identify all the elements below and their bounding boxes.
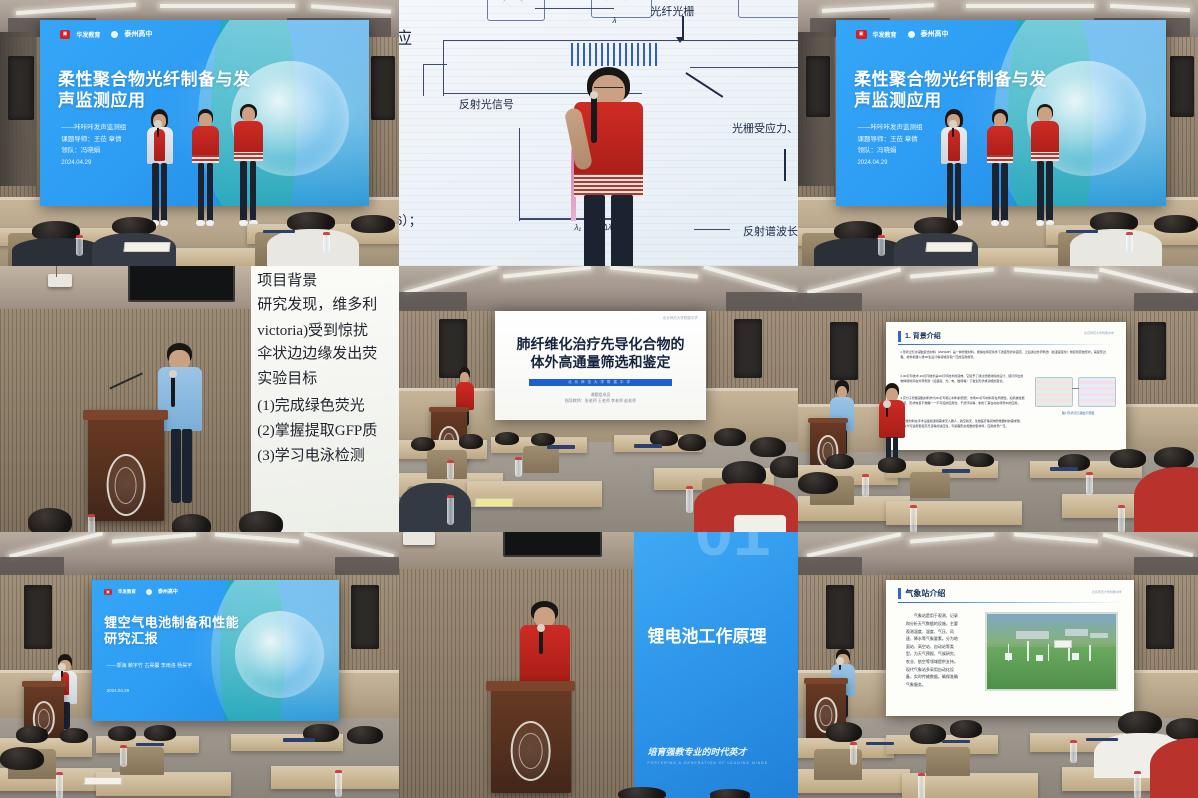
brand-logo-icon: ▣ <box>60 30 71 39</box>
diagram-label-grating-stress: 光栅受应力、 <box>732 120 798 136</box>
section-divider-slide[interactable]: 01 锂电池工作原理 培育强教专业的时代英才 FOSTERING A GENER… <box>634 532 798 798</box>
slide-accent-bar-text: 北京师范大学附属中学 <box>529 379 673 386</box>
partner-logo-label: 泰州高中 <box>921 29 949 39</box>
handheld-microphone <box>886 405 888 418</box>
slide-title: 柔性聚合物光纤制备与发 声监测应用 <box>58 70 251 111</box>
slide-subtitle: ——郭海 赖宇竹 古昊馨 李雨洛 杨昊宇 <box>107 662 193 671</box>
handheld-microphone <box>839 662 841 670</box>
university-seal <box>817 435 838 468</box>
slide-title: 柔性聚合物光纤制备与发 声监测应用 <box>854 70 1047 111</box>
collage-panel-top-center[interactable]: λ 光纤光栅 反射光信号 光栅受应力、 λ₁ Δλ 反射谱波长 <box>399 0 798 266</box>
partner-logo-label: 泰州高中 <box>124 29 152 39</box>
collage-panel-bottom-right[interactable]: 气象站介绍 北京师范大学附属中学 气象站是用于观测、记录和分析天气数据的设施，主… <box>798 532 1198 798</box>
podium <box>491 681 571 793</box>
slide-header-title: 气象站介绍 <box>905 588 945 599</box>
wall-speaker-right <box>371 56 395 120</box>
slide-line-7: (2)掌握提取GFP质 <box>257 419 377 440</box>
fiber-bragg-grating-graphic <box>571 43 659 67</box>
slide-paragraph-1: 1.形状记忆水凝胶复合材料（2WSMP）是一种智能材料，能够在特定条件下改变形状… <box>900 350 1111 359</box>
brand-logo-label: 华发教育 <box>873 30 897 39</box>
collage-panel-middle-right[interactable]: 1. 背景介绍 北京师范大学附属中学 1.形状记忆水凝胶复合材料（2WSMP）是… <box>798 266 1198 532</box>
partner-logo-icon <box>111 31 118 38</box>
arrow-down-right <box>784 149 786 181</box>
slide-figure-right <box>1078 377 1116 407</box>
slide-header: 气象站介绍 <box>898 588 945 599</box>
slide-subtitle: 课题组成员 指导教师：张老师 王老师 李老师 赵老师 <box>495 392 706 405</box>
slide-line-6: (1)完成绿色荧光 <box>257 394 365 415</box>
slide-paragraph-4: 4.智能材料在手术设备和通用需求无人器人、航空航天、生物医疗等领域智能器材的需求… <box>900 419 1025 428</box>
wall-speaker-left <box>830 322 858 381</box>
university-seal <box>438 426 459 458</box>
slide-line-4: 伞状边边缘发出荧 <box>257 342 377 363</box>
handheld-microphone <box>157 125 159 137</box>
university-seal <box>814 697 837 733</box>
partner-logo-icon <box>908 31 915 38</box>
slide-footer-chinese: 培育强教专业的时代英才 <box>647 745 746 758</box>
handheld-microphone <box>952 125 954 137</box>
handheld-microphone <box>171 375 174 407</box>
handheld-microphone <box>539 629 543 654</box>
slide-header: 1. 背景介绍 <box>898 331 941 342</box>
slide-line-5: 实验目标 <box>257 367 317 388</box>
slide-date: 2024.04.29 <box>61 160 91 166</box>
slide-corner-label: 北京师范大学附属中学 <box>1084 331 1114 335</box>
slide-line-2: 研究发现，维多利 <box>257 293 377 314</box>
projection-screen[interactable]: 北京师范大学附属中学 肺纤维化治疗先导化合物的 体外高通量筛选和鉴定 北京师范大… <box>495 311 706 420</box>
slide-corner-label: 北京师范大学附属中学 <box>663 316 698 321</box>
brand-logo-icon: ▣ <box>856 30 867 39</box>
brand-logo-icon: ▣ <box>104 589 112 595</box>
podium <box>24 681 64 745</box>
slide-line-3: victoria)受到惊扰 <box>257 319 368 340</box>
university-seal <box>106 454 145 516</box>
slide-header-title: 1. 背景介绍 <box>905 331 941 341</box>
slide-corner-label: 北京师范大学附属中学 <box>1092 590 1122 594</box>
brand-logo-label: 华发教育 <box>118 589 136 595</box>
text-slide[interactable]: 项目背景 研究发现，维多利 victoria)受到惊扰 伞状边边缘发出荧 实验目… <box>251 266 399 532</box>
university-seal <box>33 701 55 736</box>
presenter-right <box>878 383 906 473</box>
wall-speaker-right <box>1146 585 1174 649</box>
collage-panel-middle-center[interactable]: 北京师范大学附属中学 肺纤维化治疗先导化合物的 体外高通量筛选和鉴定 北京师范大… <box>399 266 798 532</box>
photo-collage-grid: ▣ 华发教育 泰州高中 柔性聚合物光纤制备与发 声监测应用 ——咔咔咔发声监测组… <box>0 0 1198 798</box>
slide-logo-row: ▣ 华发教育 泰州高中 <box>104 588 178 595</box>
arrow-diagonal <box>686 72 724 97</box>
projection-screen[interactable]: 1. 背景介绍 北京师范大学附属中学 1.形状记忆水凝胶复合材料（2WSMP）是… <box>886 322 1126 450</box>
diagram-label-reflection-spectrum: 反射谱波长 <box>743 223 798 239</box>
podium <box>431 407 467 466</box>
wall-display <box>503 532 603 557</box>
arrowhead-1 <box>676 37 684 43</box>
slide-line-1: 项目背景 <box>257 269 317 290</box>
slide-title: 锂空气电池制备和性能 研究汇报 <box>104 615 239 647</box>
presenter-female <box>142 109 178 229</box>
diagram-label-effect: 应 <box>399 24 412 49</box>
header-divider <box>898 602 1121 604</box>
wall-speaker-left <box>24 585 52 649</box>
diagram-label-formula: 6）； <box>399 210 422 229</box>
section-title: 锂电池工作原理 <box>647 622 766 647</box>
university-seal <box>510 721 551 781</box>
handheld-microphone <box>591 96 597 144</box>
diagram-label-reflected-signal: 反射光信号 <box>459 96 514 112</box>
header-accent-bar <box>898 331 901 342</box>
brand-logo-label: 华发教育 <box>76 30 100 39</box>
partner-logo-icon <box>146 589 152 595</box>
slide-footer-english: FOSTERING A GENERATION OF LEADING MINDS <box>647 761 768 765</box>
presenter-female <box>936 109 972 229</box>
collage-panel-top-left[interactable]: ▣ 华发教育 泰州高中 柔性聚合物光纤制备与发 声监测应用 ——咔咔咔发声监测组… <box>0 0 399 266</box>
slide-figure-left <box>1035 377 1073 407</box>
projection-screen[interactable]: ▣ 华发教育 泰州高中 锂空气电池制备和性能 研究汇报 ——郭海 赖宇竹 古昊馨… <box>92 580 339 721</box>
handheld-microphone <box>61 668 63 678</box>
collage-panel-middle-left[interactable]: 项目背景 研究发现，维多利 victoria)受到惊扰 伞状边边缘发出荧 实验目… <box>0 266 399 532</box>
slide-figure-caption: 图1 形状记忆凝胶示意图 <box>1037 411 1119 416</box>
weather-station-photo <box>985 612 1118 691</box>
slide-date: 2024.04.29 <box>857 160 887 166</box>
diagram-label-grating: 光纤光栅 <box>650 3 694 19</box>
wall-speaker-right <box>351 585 379 649</box>
presenter-closeup <box>571 67 647 267</box>
slide-date: 2024.04.29 <box>107 688 130 693</box>
wall-display <box>128 266 236 302</box>
collage-panel-bottom-center[interactable]: 01 锂电池工作原理 培育强教专业的时代英才 FOSTERING A GENER… <box>399 532 798 798</box>
presenter-right <box>1026 104 1064 229</box>
slide-orb-graphic <box>235 611 324 698</box>
wall-speaker-right <box>1138 322 1166 381</box>
partner-logo-label: 泰州高中 <box>158 588 178 595</box>
projection-screen[interactable]: 气象站介绍 北京师范大学附属中学 气象站是用于观测、记录和分析天气数据的设施，主… <box>886 580 1134 716</box>
wall-speaker-left <box>806 56 830 117</box>
diagram-axis-lambda: λ <box>612 16 616 25</box>
section-number: 01 <box>695 532 771 560</box>
slide-subtitle: ——咔咔咔发声监测组 课题导师：王莅 章倩 领队：冯晓娟 <box>857 122 922 156</box>
collage-panel-top-right[interactable]: ▣ 华发教育 泰州高中 柔性聚合物光纤制备与发 声监测应用 ——咔咔咔发声监测组… <box>798 0 1198 266</box>
wall-speaker-left <box>826 585 854 649</box>
wall-speaker-right <box>734 319 762 378</box>
slide-paragraph-2: 2.4D打印技术 4D打印技术是3D打印技术的延伸，它赋予了通过智能材料的设计，… <box>900 374 1025 383</box>
slide-subtitle: ——咔咔咔发声监测组 课题导师：王莅 章倩 领队：冯晓娟 <box>61 122 126 156</box>
podium <box>806 678 846 742</box>
presenter-center <box>188 109 224 229</box>
header-divider <box>898 344 1114 346</box>
podium <box>88 410 164 522</box>
header-accent-bar <box>898 588 901 599</box>
slide-title: 肺纤维化治疗先导化合物的 体外高通量筛选和鉴定 <box>495 335 706 371</box>
presenter-center <box>982 109 1018 229</box>
slide-logo-row: ▣ 华发教育 泰州高中 <box>60 29 153 39</box>
collage-panel-bottom-left[interactable]: ▣ 华发教育 泰州高中 锂空气电池制备和性能 研究汇报 ——郭海 赖宇竹 古昊馨… <box>0 532 399 798</box>
slide-line-8: (3)学习电泳检测 <box>257 444 365 465</box>
slide-logo-row: ▣ 华发教育 泰州高中 <box>856 29 949 39</box>
slide-accent-bar: 北京师范大学附属中学 <box>529 379 673 386</box>
slide-paragraph: 气象站是用于观测、记录和分析天气数据的设施，主要观测温度、湿度、气压、风速、降水… <box>906 612 961 688</box>
wall-speaker-left <box>8 56 34 120</box>
podium <box>810 418 846 477</box>
slide-paragraph-3: 3.高分子智能凝胶材料作为4D打印核心材料的而因：市场4D打印材料存在局限性，如… <box>900 396 1025 405</box>
presenter-right <box>229 104 267 229</box>
security-camera <box>48 274 72 287</box>
ceiling-projector <box>403 532 435 545</box>
wall-speaker-right <box>1170 56 1194 117</box>
